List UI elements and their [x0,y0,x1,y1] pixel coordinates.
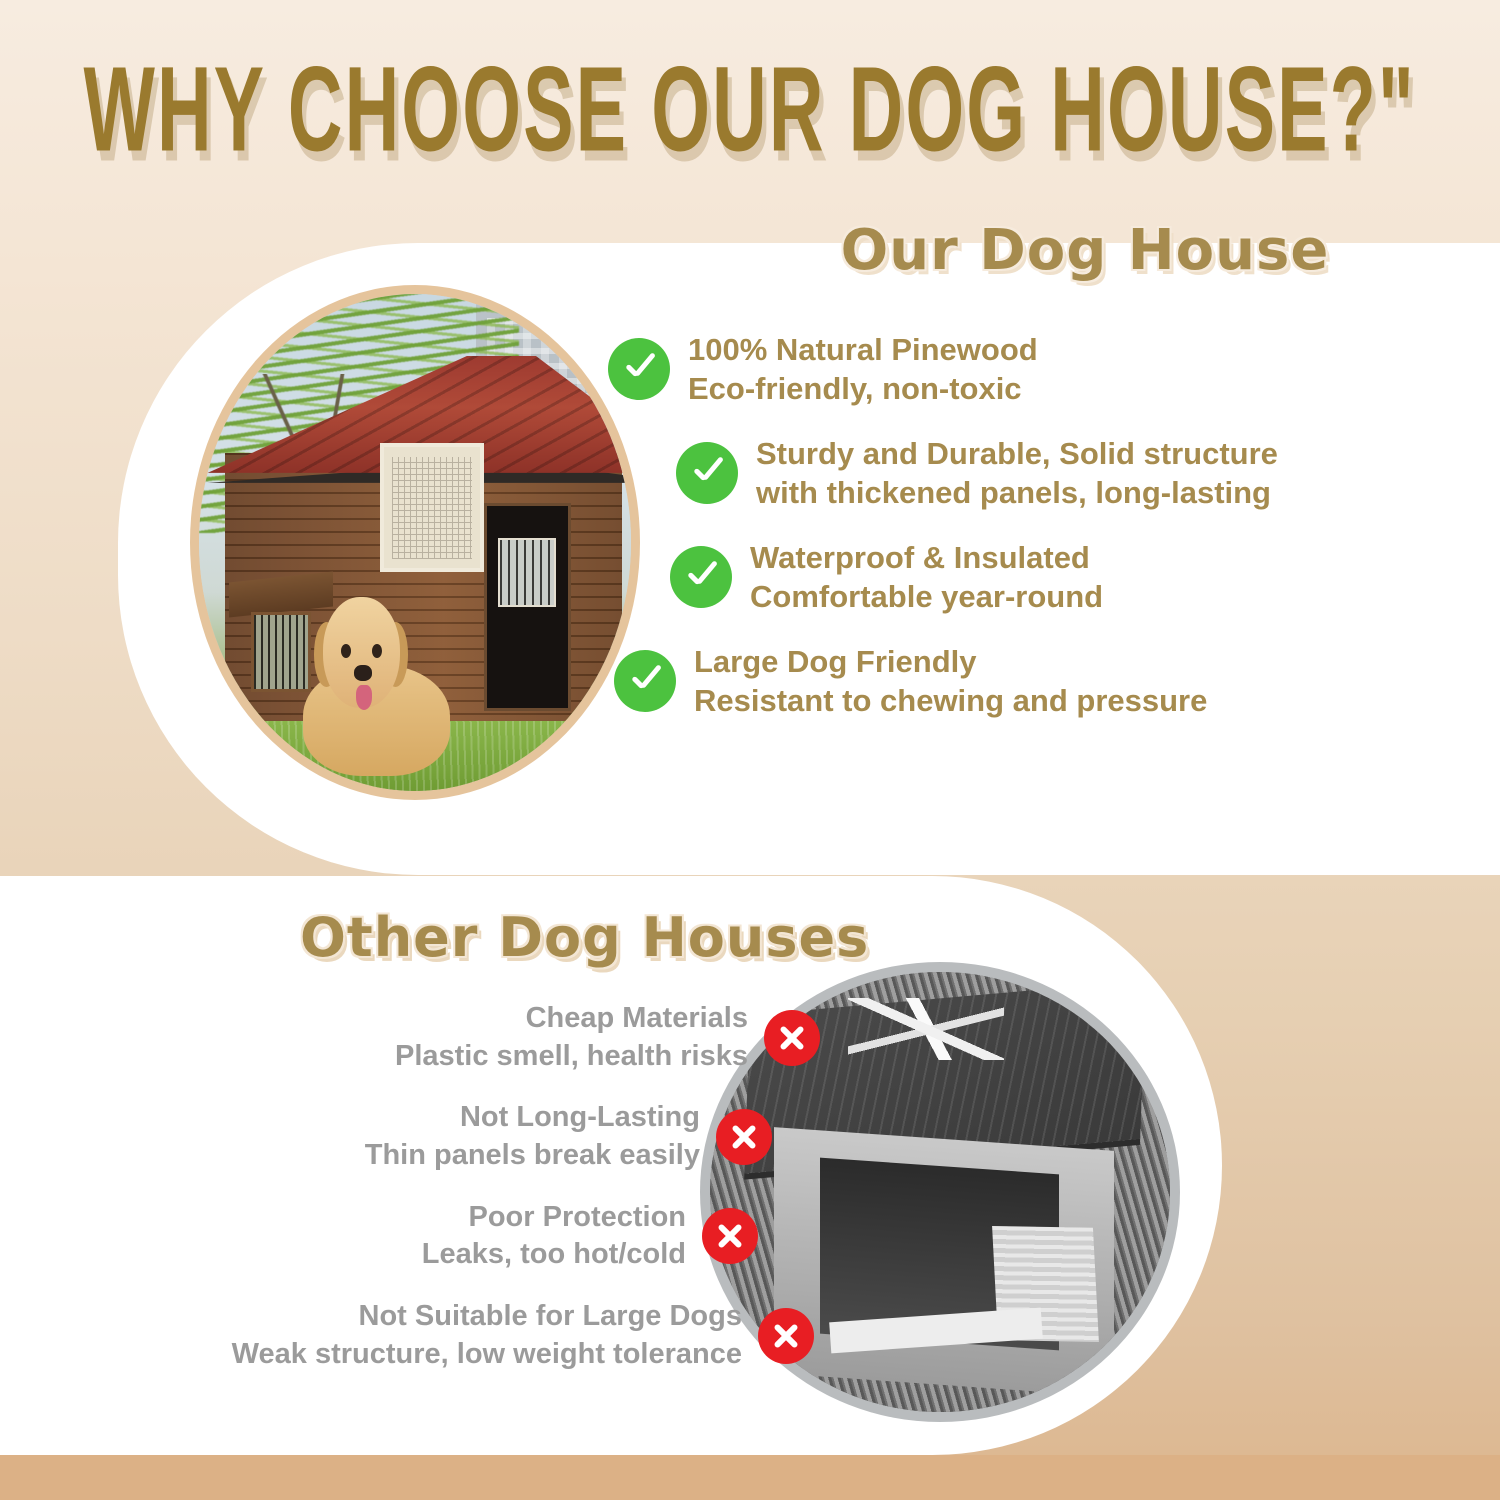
drawback-subtitle: Weak structure, low weight tolerance [232,1336,742,1374]
our-dog-house-heading-text: Our Dog House [841,218,1330,283]
our-dog-house-photo-inner [199,294,631,791]
other-dog-houses-heading: Other Dog Houses [300,906,869,969]
x-icon [702,1208,758,1264]
benefit-item: Waterproof & Insulated Comfortable year-… [670,538,1468,616]
drawback-subtitle: Thin panels break easily [365,1137,700,1175]
drawback-title: Poor Protection [422,1199,686,1237]
bottom-accent-strip [0,1455,1500,1500]
drawback-item: Poor Protection Leaks, too hot/cold [90,1199,820,1274]
drawback-title: Cheap Materials [395,1000,748,1038]
benefit-title: Sturdy and Durable, Solid structure [756,434,1278,473]
benefit-text: Sturdy and Durable, Solid structure with… [756,434,1278,512]
drawback-item: Cheap Materials Plastic smell, health ri… [90,1000,820,1075]
benefit-title: Waterproof & Insulated [750,538,1103,577]
photo-golden-retriever [303,597,450,776]
our-dog-house-photo [190,285,640,800]
drawback-title: Not Long-Lasting [365,1099,700,1137]
check-icon [676,442,738,504]
drawback-title: Not Suitable for Large Dogs [232,1298,742,1336]
x-icon [716,1109,772,1165]
benefit-subtitle: Resistant to chewing and pressure [694,681,1207,720]
dog-nose [354,665,372,681]
other-dog-houses-heading-text: Other Dog Houses [300,906,869,969]
dog-eye-right [372,644,382,658]
page-title-banner: WHY CHOOSE OUR DOG HOUSE?" [0,44,1500,174]
check-icon [670,546,732,608]
benefit-text: Waterproof & Insulated Comfortable year-… [750,538,1103,616]
drawback-text: Not Suitable for Large Dogs Weak structu… [232,1298,742,1373]
drawback-text: Poor Protection Leaks, too hot/cold [422,1199,686,1274]
benefit-title: Large Dog Friendly [694,642,1207,681]
photo-mesh-window [380,443,484,572]
drawback-subtitle: Plastic smell, health risks [395,1038,748,1076]
check-icon [608,338,670,400]
photo-door-bars [498,538,556,607]
dog-tongue [356,685,372,710]
drawback-item: Not Suitable for Large Dogs Weak structu… [90,1298,820,1373]
our-dog-house-heading: Our Dog House [0,218,1500,283]
x-icon [764,1010,820,1066]
benefit-subtitle: Eco-friendly, non-toxic [688,369,1038,408]
benefits-list: 100% Natural Pinewood Eco-friendly, non-… [608,330,1468,746]
drawback-text: Not Long-Lasting Thin panels break easil… [365,1099,700,1174]
photo-door [484,503,570,712]
benefit-text: 100% Natural Pinewood Eco-friendly, non-… [688,330,1038,408]
dog-eye-left [341,644,351,658]
benefit-text: Large Dog Friendly Resistant to chewing … [694,642,1207,720]
benefit-item: 100% Natural Pinewood Eco-friendly, non-… [608,330,1468,408]
benefit-title: 100% Natural Pinewood [688,330,1038,369]
drawback-text: Cheap Materials Plastic smell, health ri… [395,1000,748,1075]
benefit-subtitle: Comfortable year-round [750,577,1103,616]
check-icon [614,650,676,712]
bw-photo-debris [848,998,1004,1060]
drawback-item: Not Long-Lasting Thin panels break easil… [90,1099,820,1174]
x-icon [758,1308,814,1364]
drawbacks-list: Cheap Materials Plastic smell, health ri… [90,1000,820,1398]
benefit-item: Sturdy and Durable, Solid structure with… [676,434,1468,512]
benefit-subtitle: with thickened panels, long-lasting [756,473,1278,512]
drawback-subtitle: Leaks, too hot/cold [422,1236,686,1274]
page-title: WHY CHOOSE OUR DOG HOUSE?" [84,49,1416,170]
benefit-item: Large Dog Friendly Resistant to chewing … [614,642,1468,720]
